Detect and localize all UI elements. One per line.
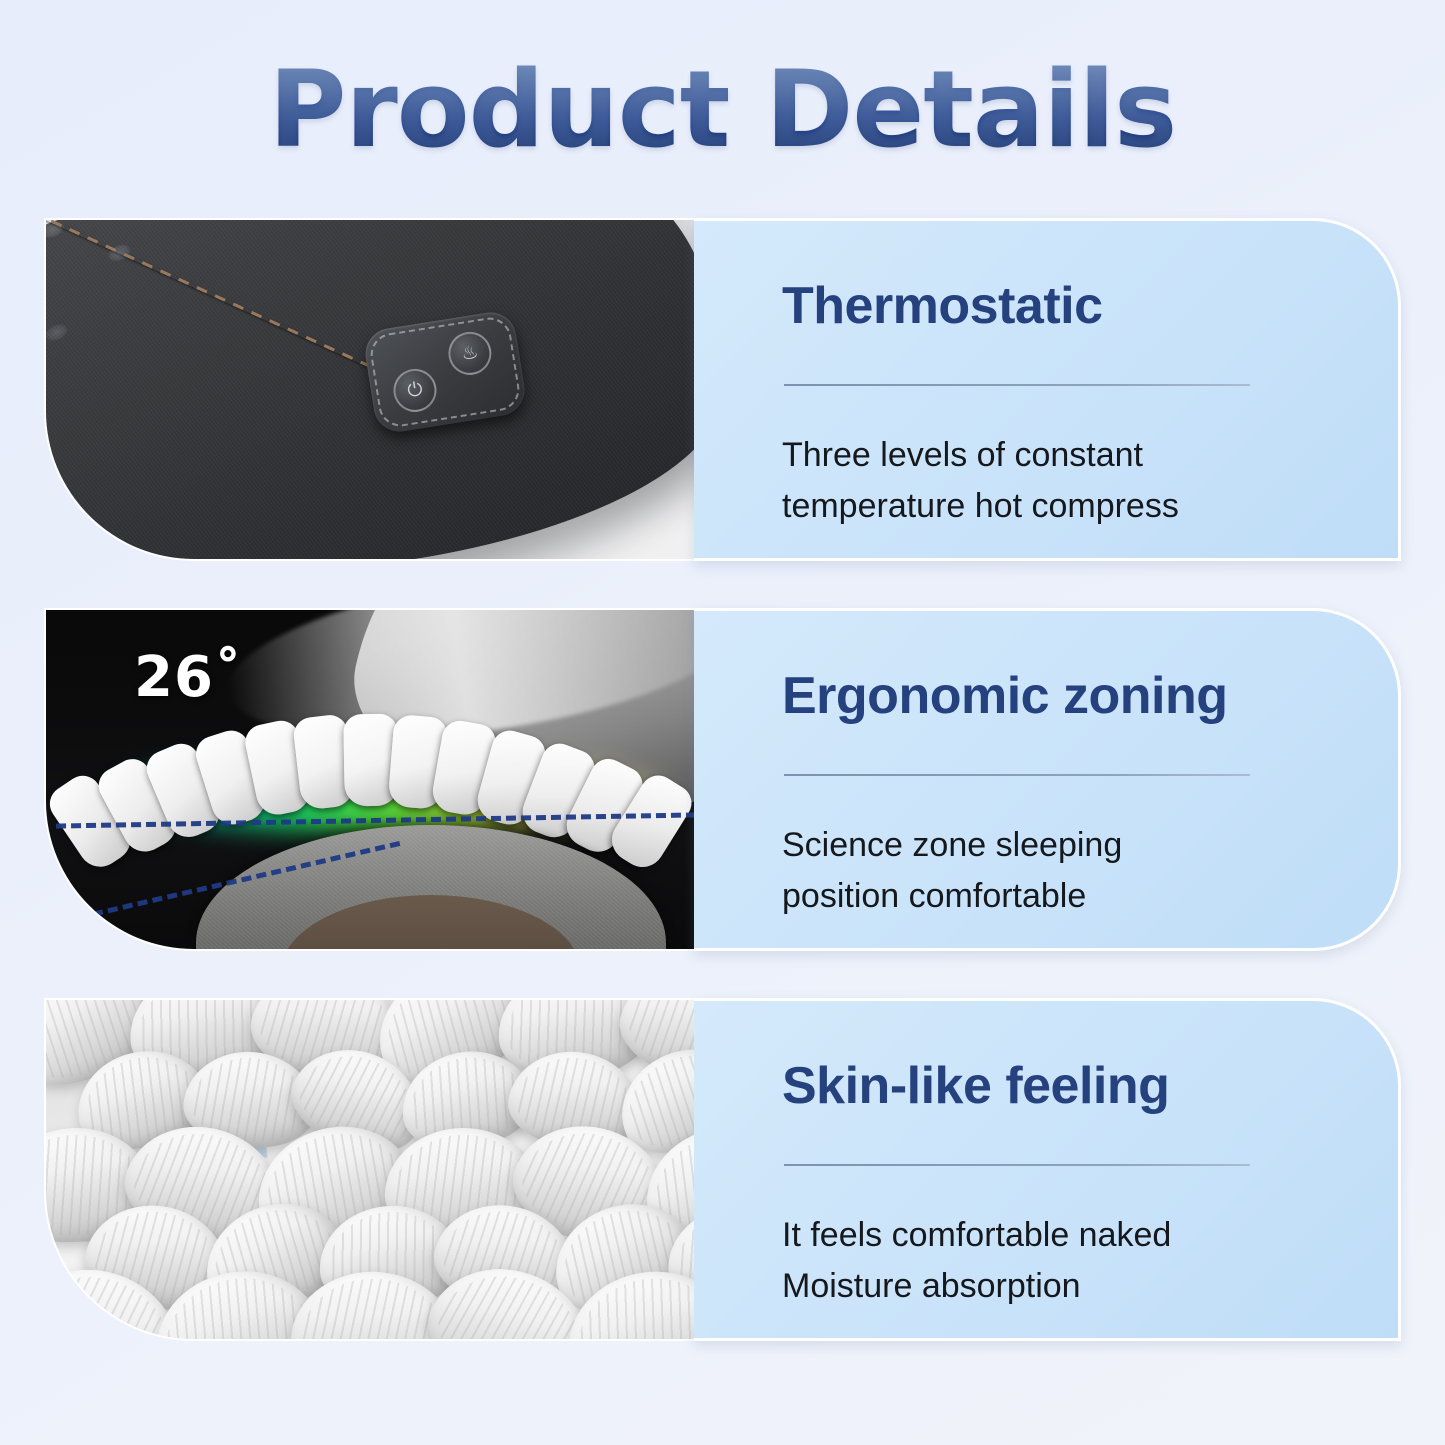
feature-description-line-2: temperature hot compress — [782, 481, 1312, 533]
feature-image-ergonomic-zoning: 26˚ — [44, 608, 694, 951]
heat-button-icon: ♨ — [445, 329, 494, 378]
feature-description: Three levels of constant temperature hot… — [782, 430, 1312, 533]
feature-title: Ergonomic zoning — [782, 669, 1398, 724]
cushion-dimple-texture — [44, 218, 276, 458]
temperature-label: 26˚ — [134, 645, 243, 710]
feature-description-line-1: Three levels of constant — [782, 430, 1312, 482]
feature-divider — [784, 774, 1250, 776]
feature-card-ergonomic-zoning: Ergonomic zoning Science zone sleeping p… — [694, 608, 1401, 951]
feature-description-line-1: Science zone sleeping — [782, 820, 1312, 872]
feature-description: Science zone sleeping position comfortab… — [782, 820, 1312, 923]
feature-image-skin-like-feeling: H2O H2O H2O — [44, 998, 694, 1341]
feature-title: Thermostatic — [782, 279, 1398, 334]
feature-list: ⏻ ♨ Thermostatic Three levels of constan… — [0, 218, 1445, 1341]
feature-divider — [784, 384, 1250, 386]
feature-title: Skin-like feeling — [782, 1059, 1398, 1114]
feature-description-line-2: Moisture absorption — [782, 1261, 1312, 1313]
page-header: Product Details — [0, 0, 1445, 218]
feature-row-thermostatic: ⏻ ♨ Thermostatic Three levels of constan… — [44, 218, 1401, 561]
feature-row-skin-like-feeling: H2O H2O H2O Skin-like feeling It feels c… — [44, 998, 1401, 1341]
page-title: Product Details — [269, 48, 1176, 171]
feature-description: It feels comfortable naked Moisture abso… — [782, 1210, 1312, 1313]
feature-card-skin-like-feeling: Skin-like feeling It feels comfortable n… — [694, 998, 1401, 1341]
feature-image-thermostatic: ⏻ ♨ — [44, 218, 694, 561]
feature-divider — [784, 1164, 1250, 1166]
cushion-stitch-seam — [44, 218, 398, 380]
feature-description-line-1: It feels comfortable naked — [782, 1210, 1312, 1262]
feature-row-ergonomic-zoning: 26˚ Ergonomic zoning Science zone sleepi… — [44, 608, 1401, 951]
feature-description-line-2: position comfortable — [782, 871, 1312, 923]
feature-card-thermostatic: Thermostatic Three levels of constant te… — [694, 218, 1401, 561]
power-button-icon: ⏻ — [390, 366, 439, 415]
